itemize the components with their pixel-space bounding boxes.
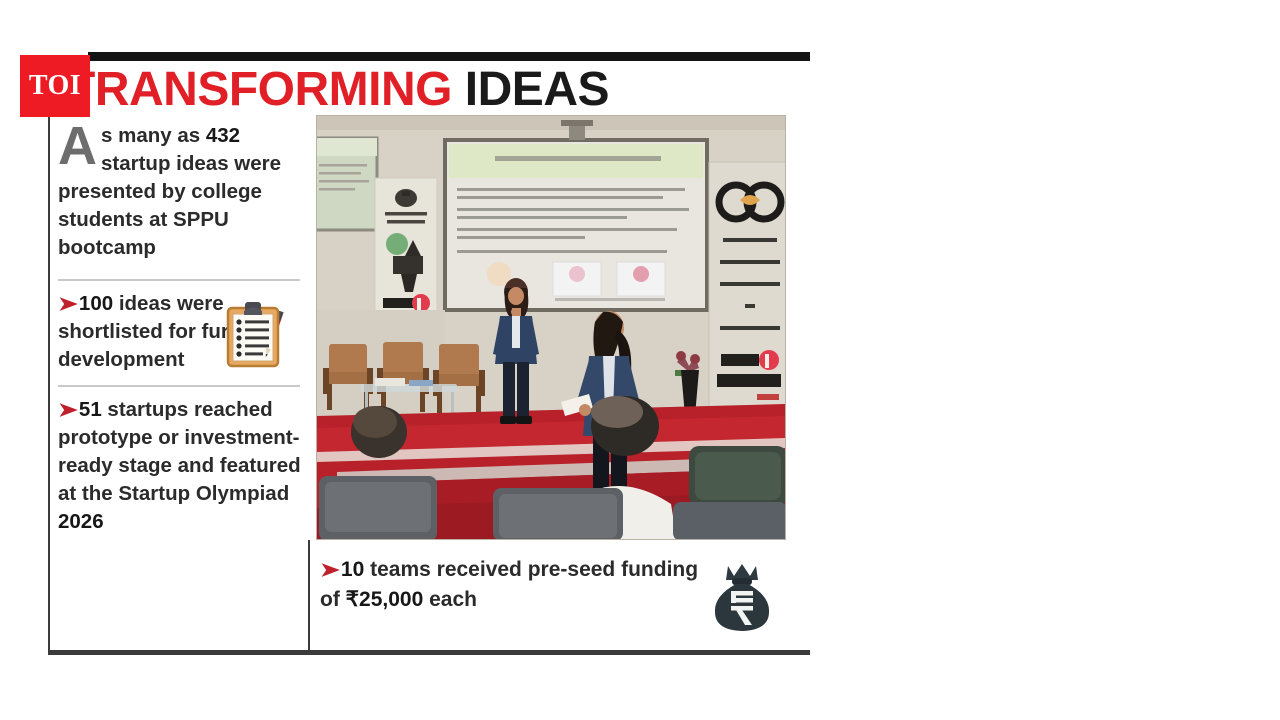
arrow-marker-icon: ➤ — [58, 295, 78, 315]
toi-logo[interactable]: TOI — [20, 55, 90, 117]
toi-logo-text: TOI — [29, 72, 81, 100]
money-bag-icon — [706, 560, 778, 635]
lead-text-before: s many as — [101, 124, 206, 147]
top-rule-divider — [88, 52, 810, 61]
page-title: TRANSFORMING IDEAS — [66, 62, 609, 118]
bullet-highlight-100: 100 — [79, 292, 113, 315]
caption-amount-value: 25,000 — [359, 588, 423, 611]
headline-red-part: TRANSFORMING — [66, 63, 452, 116]
caption-left-divider — [308, 540, 310, 652]
infographic-panel: TOI TRANSFORMING IDEAS As many as 432 st… — [20, 40, 820, 660]
lead-paragraph: As many as 432 startup ideas were presen… — [58, 122, 306, 270]
caption-text-after: each — [423, 588, 477, 611]
rupee-symbol: ₹ — [346, 588, 359, 611]
bullet-item-51: ➤51 startups reached prototype or invest… — [58, 396, 306, 538]
headline-black-part: IDEAS — [452, 63, 609, 116]
separator-2 — [58, 385, 300, 387]
clipboard-checklist-icon — [220, 298, 290, 370]
drop-cap: A — [58, 122, 101, 168]
caption-highlight-10: 10 — [341, 558, 364, 581]
bullet-highlight-51: 51 — [79, 398, 102, 421]
bottom-rule-divider — [48, 650, 810, 655]
arrow-marker-icon: ➤ — [58, 401, 78, 421]
arrow-marker-icon: ➤ — [320, 561, 340, 581]
caption-amount: ₹25,000 — [346, 588, 424, 611]
event-photo — [316, 115, 786, 540]
funding-caption: ➤10 teams received pre-seed funding of ₹… — [320, 555, 720, 615]
lead-highlight-432: 432 — [206, 124, 240, 147]
separator-1 — [58, 279, 300, 281]
bullet-highlight-2026: 2026 — [58, 510, 104, 533]
